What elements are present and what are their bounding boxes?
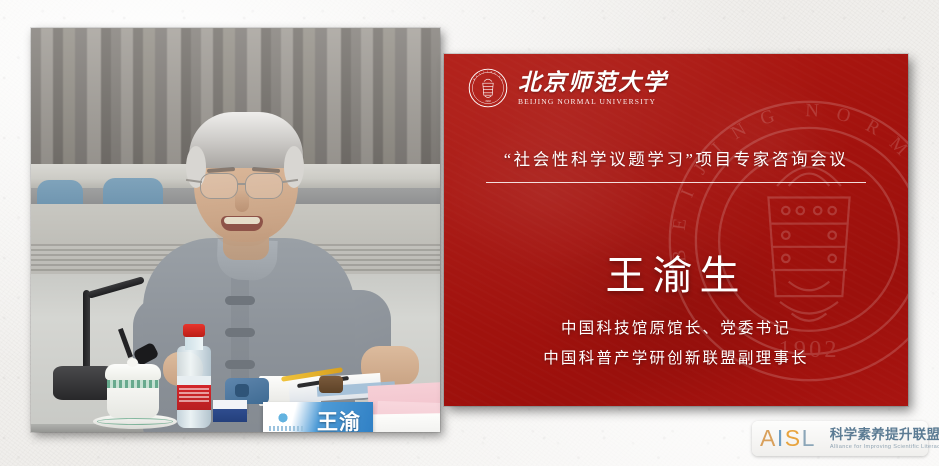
svg-text:N: N <box>498 75 502 79</box>
aisl-letter-i: I <box>777 425 785 451</box>
bnu-seal-watermark-icon: B E I J I N G N O R M A L <box>664 96 908 386</box>
title-divider <box>486 182 866 183</box>
photo-jacket-frog-button <box>225 328 255 337</box>
svg-text:I: I <box>487 70 488 73</box>
university-name-cn: 北京师范大学 <box>518 70 668 95</box>
photo-wristwatch <box>319 376 343 393</box>
photo-eyeglasses-bridge <box>238 183 246 185</box>
speaker-photo: 王渝生 <box>31 28 440 432</box>
svg-text:R: R <box>862 115 886 141</box>
aisl-name-en: Alliance for Improving Scientific Litera… <box>830 443 939 451</box>
photo-eyeglasses-lens <box>200 173 238 199</box>
aisl-name-cn: 科学素养提升联盟 <box>830 427 939 442</box>
photo-microphone-stand <box>83 290 90 376</box>
svg-text:1902: 1902 <box>485 100 491 103</box>
svg-text:N: N <box>805 100 822 122</box>
photo-jacket-frog-button <box>225 296 255 305</box>
speaker-title-line-2: 中国科普产学研创新联盟副理事长 <box>444 346 908 368</box>
photo-smartphone-camera <box>235 384 249 397</box>
svg-text:E: E <box>475 74 479 78</box>
university-logo: B E I J I N G N U 1902 <box>468 68 668 108</box>
svg-text:J: J <box>483 71 485 74</box>
photo-water-bottle-label-text <box>179 388 209 402</box>
photo-person-nose <box>235 190 249 212</box>
aisl-letter-a: A <box>760 425 777 451</box>
photo-saucer-ring <box>97 418 173 425</box>
svg-text:G: G <box>758 105 780 130</box>
svg-text:I: I <box>677 184 700 200</box>
conference-title: “社会性科学议题学习”项目专家咨询会议 <box>444 146 908 170</box>
speaker-name: 王渝生 <box>444 252 908 300</box>
svg-text:N: N <box>490 71 493 74</box>
photo-nameplate-emblem <box>275 410 291 423</box>
aisl-letter-s: S <box>785 425 802 451</box>
photo-teacup-pattern <box>107 380 159 388</box>
svg-text:E: E <box>669 214 692 231</box>
aisl-letters: AISL <box>760 427 816 450</box>
photo-nameplate-text: 王渝生 <box>307 410 371 432</box>
speaker-title-line-1: 中国科技馆原馆长、党委书记 <box>444 316 908 338</box>
photo-jacket-frog-button <box>225 360 255 369</box>
photo-person-teeth <box>224 217 260 224</box>
photo-nameplate-subtext <box>269 426 303 431</box>
photo-eyeglasses-lens <box>245 173 283 199</box>
aisl-letter-l: L <box>802 425 816 451</box>
svg-text:N: N <box>727 117 752 144</box>
svg-text:O: O <box>834 103 856 128</box>
bnu-seal-icon: B E I J I N G N U 1902 <box>468 68 508 108</box>
photo-small-package <box>213 400 247 422</box>
speaker-info-panel: B E I J I N G N O R M A L <box>444 54 908 406</box>
photo-water-bottle-cap <box>183 324 205 337</box>
photo-teacup-knob <box>127 358 138 367</box>
university-name-en: BEIJING NORMAL UNIVERSITY <box>518 97 668 106</box>
aisl-logo: AISL 科学素养提升联盟 Alliance for Improving Sci… <box>752 421 928 456</box>
